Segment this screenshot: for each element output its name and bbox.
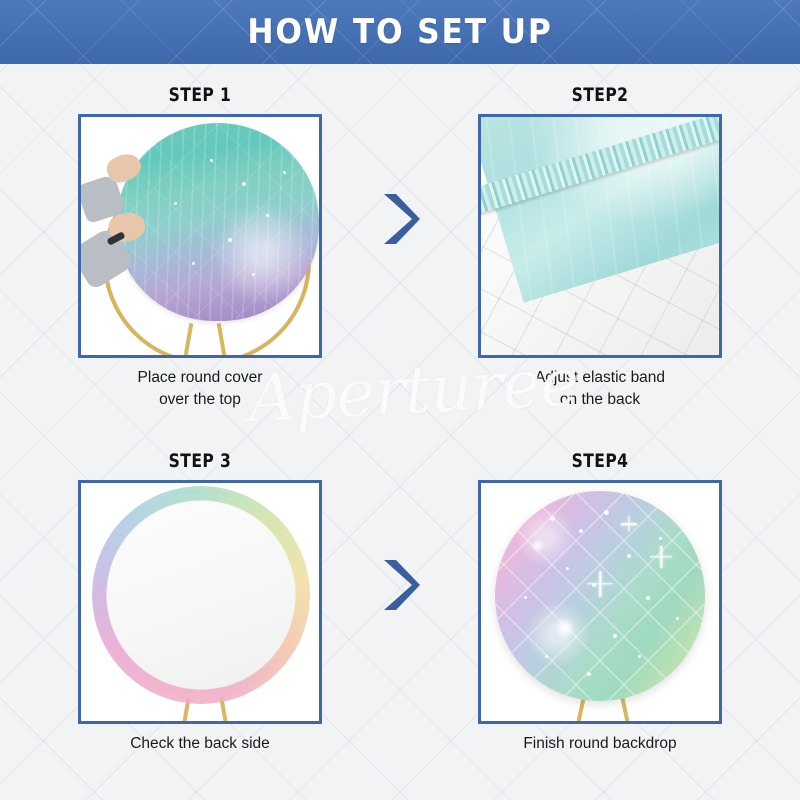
arrow-step3-to-step4: [378, 558, 420, 612]
rainbow-gradient-rim: [92, 486, 310, 704]
step-2: STEP2 Adjust elastic band on the back: [452, 84, 748, 411]
step-3-photo: [81, 483, 319, 721]
step-1-caption-line-2: over the top: [52, 389, 348, 411]
step-1: STEP 1: [52, 84, 348, 411]
step-3-caption: Check the back side: [52, 733, 348, 755]
step-1-caption: Place round cover over the top: [52, 367, 348, 411]
step-4-title: STEP4: [479, 450, 722, 472]
step-2-caption: Adjust elastic band on the back: [452, 367, 748, 411]
sparkle-star: [650, 546, 672, 568]
step-2-caption-line-2: on the back: [452, 389, 748, 411]
arrow-step1-to-step2: [378, 192, 420, 246]
step-1-image-frame: [78, 114, 322, 358]
step-3-caption-line-1: Check the back side: [52, 733, 348, 755]
step-4-image-frame: [478, 480, 722, 724]
finished-backdrop-panel: [495, 491, 705, 701]
sparkle-star: [587, 571, 613, 597]
step-4: STEP4: [452, 450, 748, 755]
step-2-image-frame: [478, 114, 722, 358]
gradient-cover-cloth: [117, 123, 319, 321]
step-3-title: STEP 3: [79, 450, 322, 472]
step-2-photo: [481, 117, 719, 355]
chevron-right-icon: [378, 558, 420, 612]
page-title: HOW TO SET UP: [32, 0, 768, 64]
step-2-title: STEP2: [479, 84, 722, 106]
cloth-quilt-lines: [117, 123, 319, 321]
step-1-title: STEP 1: [79, 84, 322, 106]
page-header: HOW TO SET UP: [0, 0, 800, 64]
step-4-caption-line-1: Finish round backdrop: [452, 733, 748, 755]
step-2-caption-line-1: Adjust elastic band: [452, 367, 748, 389]
sparkle-star: [621, 516, 637, 532]
infographic-page: HOW TO SET UP STEP 1: [0, 0, 800, 800]
step-3-image-frame: [78, 480, 322, 724]
step-1-caption-line-1: Place round cover: [52, 367, 348, 389]
step-4-photo: [481, 483, 719, 721]
step-4-caption: Finish round backdrop: [452, 733, 748, 755]
step-3: STEP 3 Check the back side: [52, 450, 348, 755]
step-1-photo: [81, 117, 319, 355]
chevron-right-icon: [378, 192, 420, 246]
